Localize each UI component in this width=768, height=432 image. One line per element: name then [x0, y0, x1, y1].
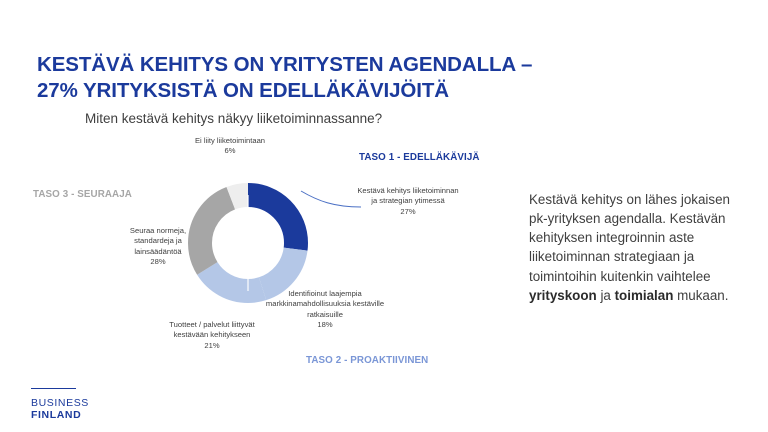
segment-label-normit-value: 28% — [112, 257, 204, 267]
segment-label-ydin: Kestävä kehitys liiketoiminnan ja strate… — [356, 186, 460, 217]
segment-label-tuotteet-text: Tuotteet / palvelut liittyvät kestävään … — [169, 320, 254, 339]
page-title: KESTÄVÄ KEHITYS ON YRITYSTEN AGENDALLA –… — [37, 52, 557, 104]
segment-label-tuotteet: Tuotteet / palvelut liittyvät kestävään … — [158, 320, 266, 351]
segment-label-ydin-value: 27% — [356, 207, 460, 217]
segment-label-tuotteet-value: 21% — [158, 341, 266, 351]
body-copy: Kestävä kehitys on lähes jokaisen pk-yri… — [529, 190, 734, 304]
body-copy-part-1: Kestävä kehitys on lähes jokaisen pk-yri… — [529, 192, 730, 283]
segment-label-markkinat: Identifioinut laajempia markkinamahdolli… — [263, 289, 387, 330]
body-copy-emphasis-1: yrityskoon — [529, 288, 597, 303]
body-copy-part-3: mukaan. — [673, 288, 728, 303]
segment-label-ei-liity-text: Ei liity liiketoimintaan — [195, 136, 265, 145]
segment-label-ydin-text: Kestävä kehitys liiketoiminnan ja strate… — [357, 186, 458, 205]
footer-divider — [31, 388, 76, 389]
logo-line-finland: FINLAND — [31, 409, 89, 421]
segment-label-markkinat-text: Identifioinut laajempia markkinamahdolli… — [266, 289, 384, 319]
page-title-line-1: KESTÄVÄ KEHITYS ON YRITYSTEN AGENDALLA – — [37, 52, 557, 78]
segment-label-markkinat-value: 18% — [263, 320, 387, 330]
chart-question-heading: Miten kestävä kehitys näkyy liiketoiminn… — [85, 111, 382, 126]
leader-line-ydin — [300, 188, 362, 214]
body-copy-emphasis-2: toimialan — [615, 288, 674, 303]
tier-label-1: TASO 1 - EDELLÄKÄVIJÄ — [359, 152, 480, 163]
tier-label-3: TASO 3 - SEURAAJA — [33, 189, 132, 200]
segment-label-normit: Seuraa normeja, standardeja ja lainsäädä… — [112, 226, 204, 267]
business-finland-logo: BUSINESS FINLAND — [31, 397, 89, 422]
segment-label-normit-text: Seuraa normeja, standardeja ja lainsäädä… — [130, 226, 186, 256]
body-copy-part-2: ja — [597, 288, 615, 303]
segment-label-ei-liity: Ei liity liiketoimintaan 6% — [184, 136, 276, 157]
logo-line-business: BUSINESS — [31, 397, 89, 409]
page-title-line-2: 27% YRITYKSISTÄ ON EDELLÄKÄVIJÖITÄ — [37, 78, 557, 104]
tier-label-2: TASO 2 - PROAKTIIVINEN — [306, 355, 428, 366]
segment-label-ei-liity-value: 6% — [184, 146, 276, 156]
